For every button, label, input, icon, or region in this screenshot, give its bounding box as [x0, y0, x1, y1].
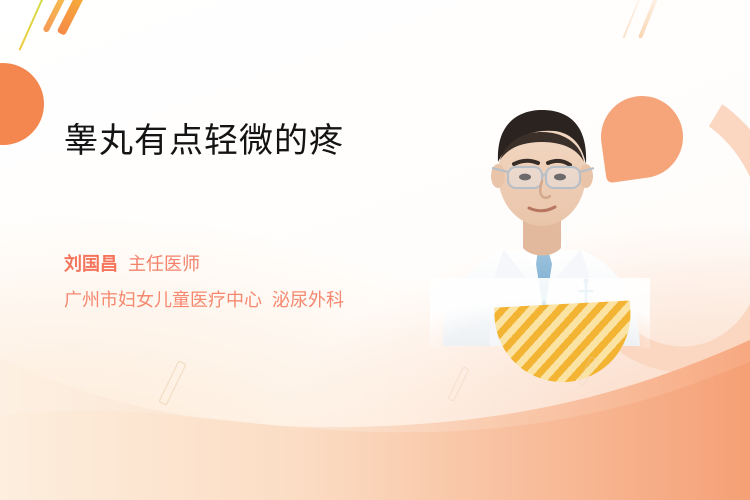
- doctor-affiliation-line: 广州市妇女儿童医疗中心泌尿外科: [64, 286, 344, 312]
- page-title: 睾丸有点轻微的疼: [64, 113, 344, 162]
- doctor-hospital: 广州市妇女儿童医疗中心: [64, 290, 262, 310]
- doctor-department: 泌尿外科: [272, 290, 344, 310]
- doctor-name-line: 刘国昌主任医师: [64, 250, 200, 276]
- medical-video-cover-card: 睾丸有点轻微的疼 刘国昌主任医师 广州市妇女儿童医疗中心泌尿外科: [0, 0, 750, 500]
- doctor-rank: 主任医师: [128, 254, 200, 274]
- bottom-wave-decoration: [0, 340, 750, 500]
- doctor-name: 刘国昌: [64, 254, 118, 274]
